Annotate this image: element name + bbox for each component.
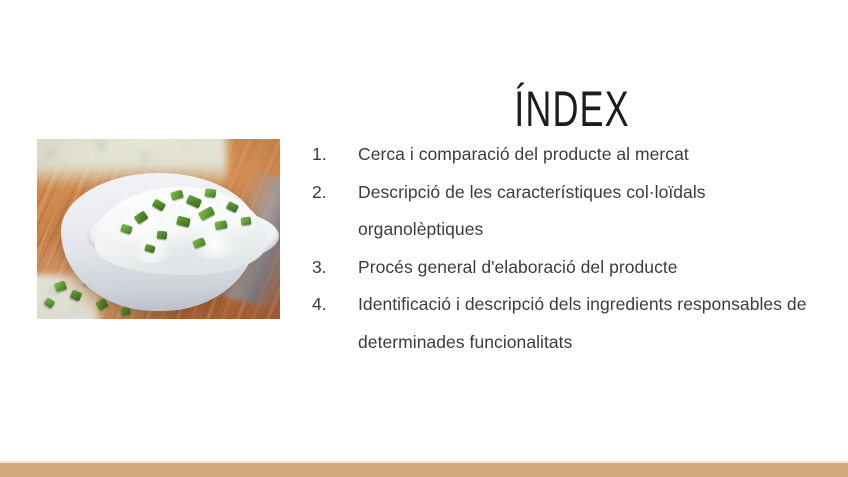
list-item: 4. Identificació i descripció dels ingre… <box>312 286 824 361</box>
page-title: ÍNDEX <box>385 80 759 138</box>
list-item: 1. Cerca i comparació del producte al me… <box>312 136 824 174</box>
list-item-number: 2. <box>312 174 358 212</box>
list-item-number: 4. <box>312 286 358 324</box>
footer-accent-bar <box>0 463 848 477</box>
list-item: 3. Procés general d'elaboració del produ… <box>312 249 824 287</box>
slide: ÍNDEX <box>0 0 848 477</box>
list-item: 2. Descripció de les característiques co… <box>312 174 824 249</box>
photo-chive-flake <box>157 230 168 239</box>
photo-chive-flake <box>214 220 227 230</box>
list-item-label: Cerca i comparació del producte al merca… <box>358 136 824 174</box>
cream-cheese-bowl-photo <box>37 139 280 319</box>
photo-chive-flake <box>226 201 239 213</box>
photo-chive-flake <box>176 216 191 228</box>
list-item-label: Descripció de les característiques col·l… <box>358 174 824 249</box>
list-item-label: Procés general d'elaboració del producte <box>358 249 824 287</box>
index-list: 1. Cerca i comparació del producte al me… <box>312 136 824 361</box>
list-item-label: Identificació i descripció dels ingredie… <box>358 286 824 361</box>
list-item-number: 1. <box>312 136 358 174</box>
photo-chive-flake <box>241 216 252 225</box>
photo-chive-flake <box>204 188 216 197</box>
list-item-number: 3. <box>312 249 358 287</box>
photo-cream-cheese <box>95 187 267 275</box>
